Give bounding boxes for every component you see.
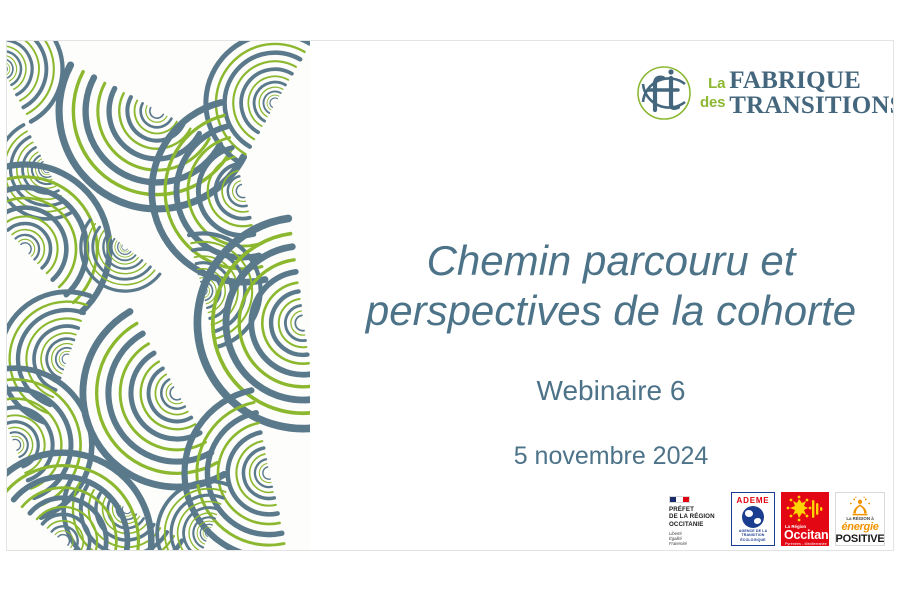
partner-logo-ademe: ADEME AGENCE DE LA TRANSITION ÉCOLOGIQUE xyxy=(731,492,775,546)
fabrique-des-transitions-logo: La des FABRIQUE TRANSITIONS xyxy=(633,57,873,129)
partner-logos-strip: PRÉFET DE LA RÉGION OCCITANIE Liberté Ég… xyxy=(669,489,885,546)
partner-logo-region-occitanie: La Région Occitanie Pyrénées - Méditerra… xyxy=(781,492,829,546)
positive-word: POSITIVE xyxy=(835,533,884,545)
title-block: Chemin parcouru et perspectives de la co… xyxy=(337,236,885,336)
energy-burst-icon xyxy=(845,496,875,516)
ademe-sub-3: ÉCOLOGIQUE xyxy=(739,538,767,542)
energie-word: énergie xyxy=(841,521,878,533)
french-flag-icon xyxy=(669,496,690,503)
prefet-line-3: OCCITANIE xyxy=(669,521,725,528)
ft-monogram-icon xyxy=(633,62,695,124)
devise-fraternite: Fraternité xyxy=(669,541,725,546)
brand-wordmark: La des FABRIQUE TRANSITIONS xyxy=(700,68,894,118)
brand-article-la: La xyxy=(708,74,725,93)
slide-canvas: La des FABRIQUE TRANSITIONS Chemin parco… xyxy=(6,40,894,551)
slide-subtitle: Webinaire 6 xyxy=(337,374,885,408)
page-title: Chemin parcouru et perspectives de la co… xyxy=(337,236,885,336)
globe-icon xyxy=(742,506,764,528)
brand-word-fabrique: FABRIQUE xyxy=(729,68,894,93)
ademe-wordmark: ADEME xyxy=(737,496,770,505)
occitan-cross-icon xyxy=(785,495,825,523)
slide-date: 5 novembre 2024 xyxy=(337,441,885,471)
ademe-sub-2: TRANSITION xyxy=(739,533,767,537)
brand-word-transitions: TRANSITIONS xyxy=(729,93,894,118)
partner-logo-prefet-occitanie: PRÉFET DE LA RÉGION OCCITANIE Liberté Ég… xyxy=(669,494,725,546)
occitanie-subtitle: Pyrénées - Méditerranée xyxy=(785,542,827,546)
prefet-line-2: DE LA RÉGION xyxy=(669,513,725,520)
partner-logo-region-energie-positive: La RÉGION à énergie POSITIVE xyxy=(835,492,885,546)
decorative-ripple-pattern xyxy=(7,41,310,550)
occitanie-name: Occitanie xyxy=(784,529,829,542)
brand-article-des: des xyxy=(700,93,725,112)
